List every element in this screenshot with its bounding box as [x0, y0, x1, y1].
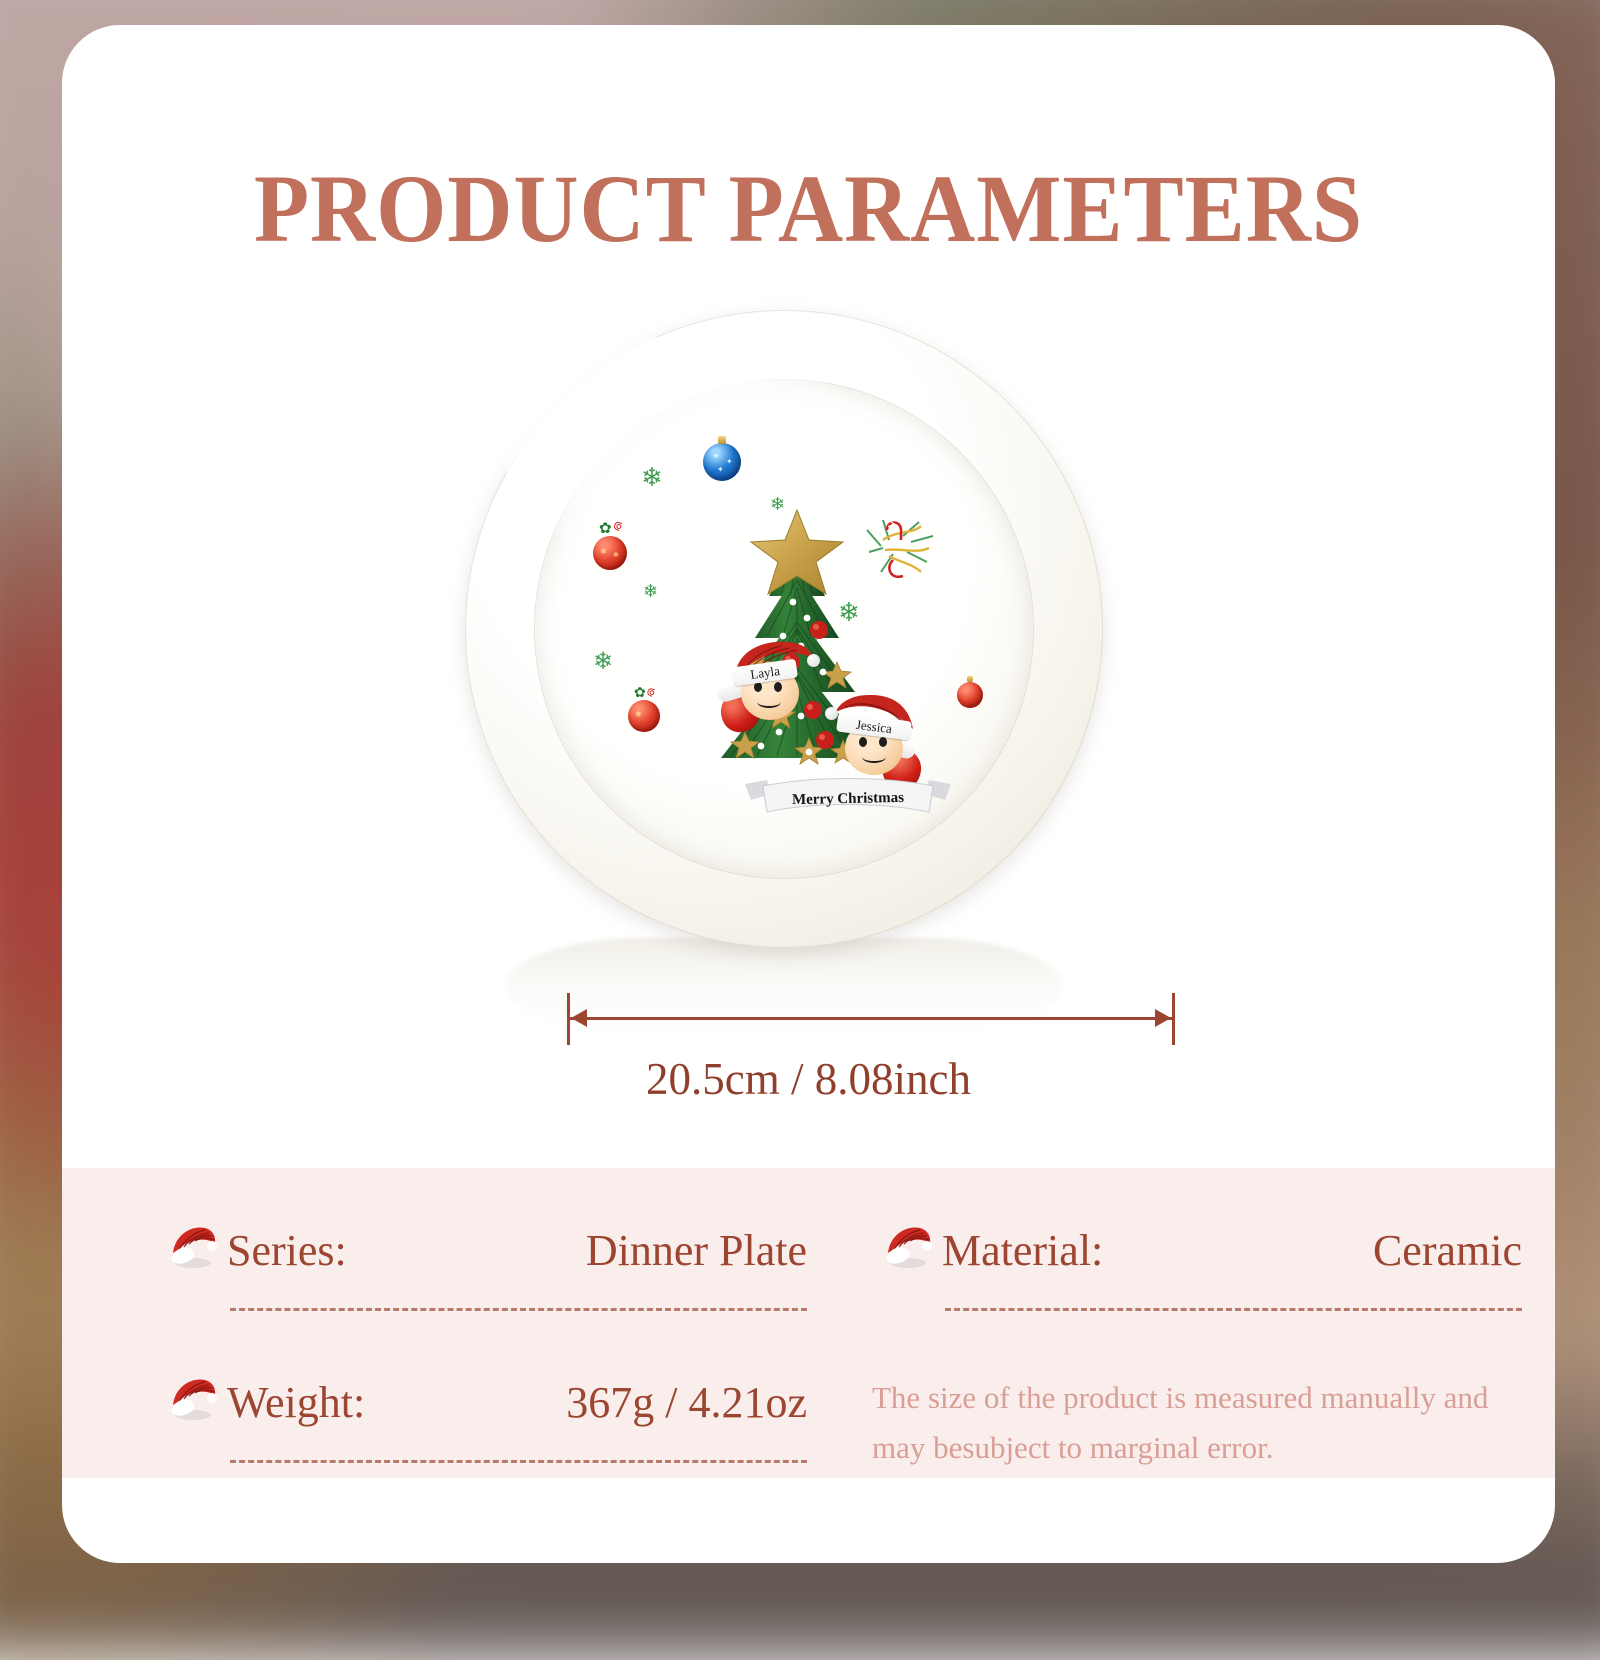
dimension-arrowhead-right	[1155, 1009, 1171, 1027]
red-ornament-icon: ❅	[628, 700, 660, 732]
ornament-cap-icon	[967, 676, 973, 682]
param-divider	[945, 1308, 1522, 1311]
dimension-arrow	[567, 993, 1175, 1045]
param-divider	[230, 1308, 807, 1311]
dimension-arrowhead-left	[571, 1009, 587, 1027]
param-row-material: Material: Ceramic	[882, 1221, 1522, 1273]
santa-hat-icon	[882, 1223, 934, 1269]
hat-pompom	[807, 654, 820, 667]
measurement-note: The size of the product is measured manu…	[872, 1373, 1532, 1473]
banner-text: Merry Christmas	[743, 776, 954, 822]
dinner-plate: ❄ ❄ ❄ ❄ ❄ ❄ ❄ ✦ ✦ ✦ ✿ ⟃ ❅ ❅	[465, 310, 1103, 948]
param-row-weight: Weight: 367g / 4.21oz	[167, 1373, 807, 1425]
santa-hat-icon	[167, 1223, 219, 1269]
product-parameters-card: PRODUCT PARAMETERS ❄ ❄ ❄ ❄ ❄ ❄ ❄ ✦ ✦ ✦	[62, 25, 1555, 1563]
blue-ornament-icon: ✦ ✦ ✦	[703, 443, 741, 481]
param-value: Ceramic	[1373, 1229, 1522, 1273]
param-label: Weight:	[227, 1381, 365, 1425]
hat-pompom	[825, 707, 838, 720]
param-label: Material:	[942, 1229, 1103, 1273]
snowflake-icon: ❄	[643, 582, 658, 600]
product-image: ❄ ❄ ❄ ❄ ❄ ❄ ❄ ✦ ✦ ✦ ✿ ⟃ ❅ ❅	[465, 310, 1165, 1010]
merry-christmas-banner: Merry Christmas	[743, 778, 953, 820]
character-name: Layla	[749, 663, 780, 682]
page-title: PRODUCT PARAMETERS	[107, 153, 1510, 264]
snowflake-icon: ❄	[593, 650, 613, 674]
snowflake-icon: ❄	[641, 465, 663, 491]
param-label: Series:	[227, 1229, 347, 1273]
param-value: Dinner Plate	[586, 1229, 807, 1273]
dimension-label: 20.5cm / 8.08inch	[62, 1053, 1555, 1105]
red-ornament-icon	[957, 682, 983, 708]
santa-hat-icon	[167, 1375, 219, 1421]
character-name: Jessica	[855, 717, 893, 736]
param-value: 367g / 4.21oz	[566, 1381, 807, 1425]
ornament-cap-icon	[718, 436, 726, 444]
dimension-line	[567, 1017, 1175, 1020]
param-row-series: Series: Dinner Plate	[167, 1221, 807, 1273]
red-ornament-icon: ❅ ❅	[593, 536, 627, 570]
param-divider	[230, 1460, 807, 1463]
